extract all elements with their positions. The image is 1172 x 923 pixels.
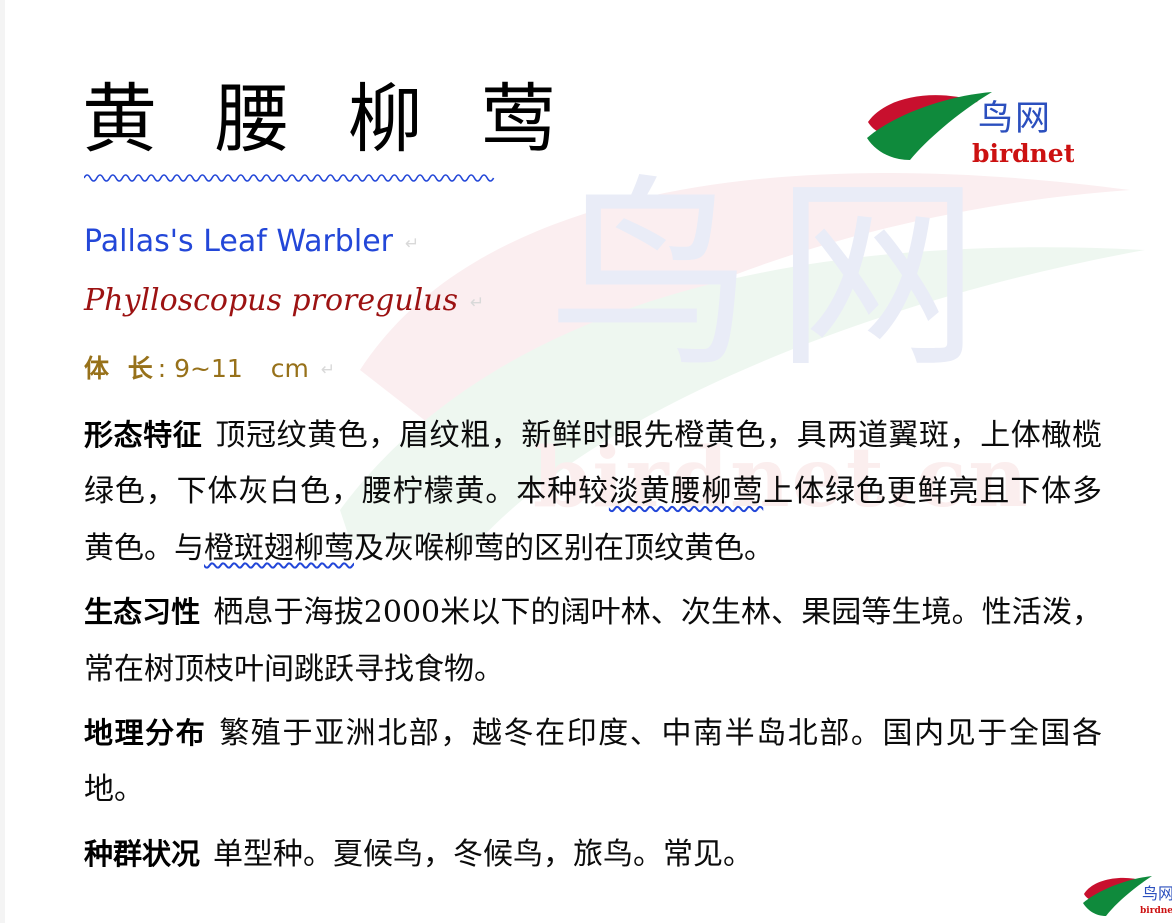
section-text-wavy: 淡黄腰柳莺	[609, 474, 763, 509]
svg-text:鸟网: 鸟网	[1142, 884, 1172, 903]
title-wavy-underline-icon	[84, 170, 496, 182]
section-heading: 形态特征	[84, 418, 202, 452]
left-edge-strip	[0, 0, 5, 923]
body-length-label: 体 长	[84, 354, 158, 383]
paragraph-mark-icon: ↵	[470, 293, 484, 313]
description-sections: 形态特征顶冠纹黄色，眉纹粗，新鲜时眼先橙黄色，具两道翼斑，上体橄榄绿色，下体灰白…	[84, 408, 1102, 891]
english-name-text: Pallas's Leaf Warbler	[84, 224, 393, 259]
description-section: 地理分布繁殖于亚洲北部，越冬在印度、中南半岛北部。国内见于全国各地。	[84, 706, 1102, 819]
birdnet-logo-top[interactable]: 鸟网 birdnet.cn	[866, 86, 1074, 170]
section-text: 单型种。夏候鸟，冬候鸟，旅鸟。常见。	[213, 837, 753, 872]
body-length-unit: cm	[271, 354, 309, 383]
body-length-line: 体 长: 9~11cm↵	[84, 349, 335, 385]
section-text: 及灰喉柳莺的区别在顶纹黄色。	[354, 531, 774, 566]
section-heading: 地理分布	[84, 716, 206, 750]
section-heading: 种群状况	[84, 837, 200, 871]
svg-text:birdnet.cn: birdnet.cn	[1140, 906, 1172, 916]
paragraph-mark-icon: ↵	[405, 234, 419, 254]
page-title: 黄 腰 柳 莺	[82, 74, 573, 166]
scientific-name-text: Phylloscopus proregulus	[84, 283, 458, 318]
bird-species-card: 鸟网 birdnet.cn 黄 腰 柳 莺 Pallas's Leaf Warb…	[0, 0, 1172, 923]
body-length-value: 9~11	[174, 354, 243, 383]
description-section: 形态特征顶冠纹黄色，眉纹粗，新鲜时眼先橙黄色，具两道翼斑，上体橄榄绿色，下体灰白…	[84, 408, 1102, 577]
birdnet-logo-bottom[interactable]: 鸟网 birdnet.cn	[1082, 872, 1172, 922]
body-length-separator: :	[158, 354, 166, 383]
description-section: 种群状况单型种。夏候鸟，冬候鸟，旅鸟。常见。	[84, 827, 1102, 883]
section-text-wavy: 橙斑翅柳莺	[204, 531, 354, 566]
paragraph-mark-icon: ↵	[321, 360, 335, 380]
section-text: 栖息于海拔2000米以下的阔叶林、次生林、果园等生境。性活泼，常在树顶枝叶间跳跃…	[84, 595, 1102, 686]
watermark-cjk-text: 鸟网	[548, 175, 1002, 380]
section-heading: 生态习性	[84, 595, 200, 629]
section-text: 繁殖于亚洲北部，越冬在印度、中南半岛北部。国内见于全国各地。	[84, 716, 1102, 807]
description-section: 生态习性栖息于海拔2000米以下的阔叶林、次生林、果园等生境。性活泼，常在树顶枝…	[84, 585, 1102, 698]
svg-text:birdnet.cn: birdnet.cn	[972, 139, 1074, 168]
english-name: Pallas's Leaf Warbler↵	[84, 224, 419, 259]
svg-text:鸟网: 鸟网	[978, 99, 1052, 139]
scientific-name: Phylloscopus proregulus↵	[84, 283, 484, 318]
